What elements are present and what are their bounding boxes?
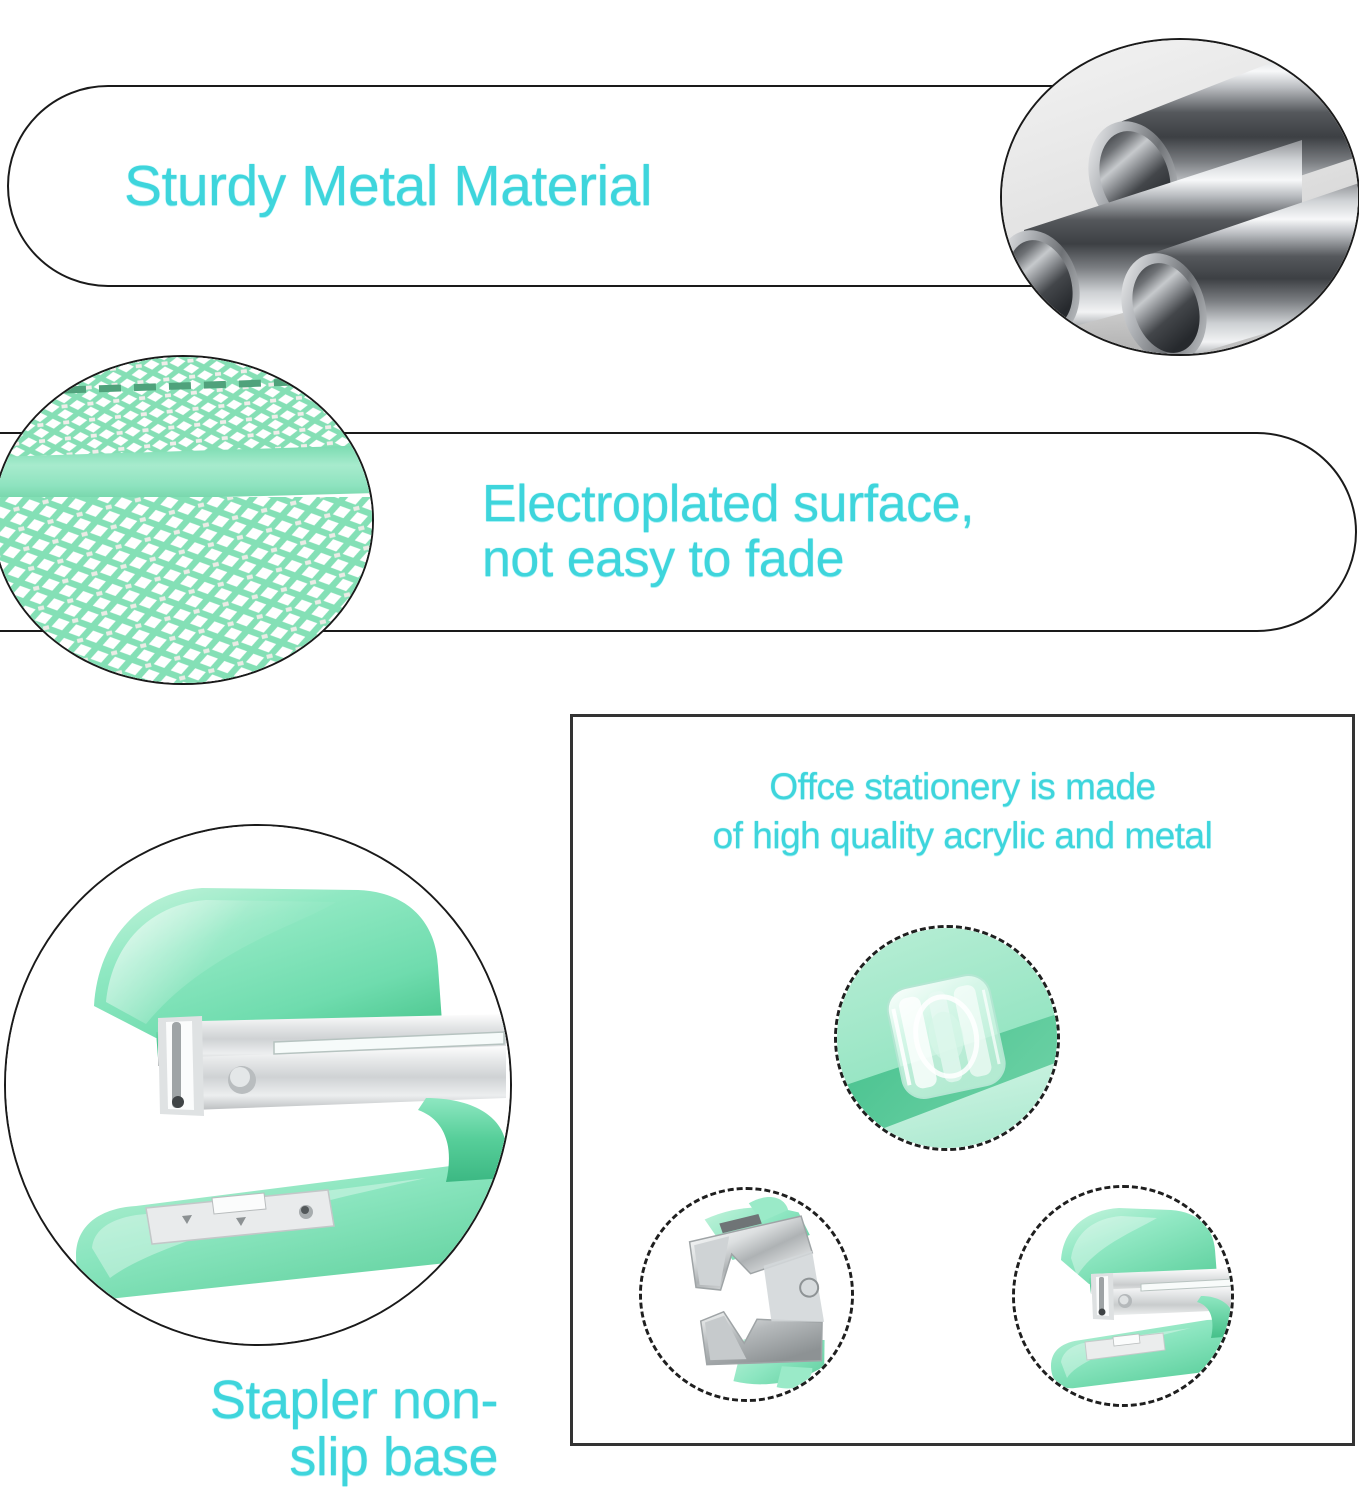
mini-stapler-photo xyxy=(1015,1188,1234,1407)
caption-sturdy-metal-material: Sturdy Metal Material xyxy=(7,85,1097,287)
staple-remover-circle xyxy=(639,1187,854,1402)
staple-remover-photo xyxy=(642,1190,854,1402)
caption-stapler-non-slip-base: Stapler non- slip base xyxy=(28,1372,498,1486)
steel-tubes-photo xyxy=(1002,40,1359,356)
panel-heading: Offce stationery is made of high quality… xyxy=(573,763,1352,861)
mini-stapler-circle xyxy=(1012,1185,1234,1407)
caption-sturdy-label: Sturdy Metal Material xyxy=(124,156,652,216)
infographic-canvas: Sturdy Metal Material xyxy=(0,0,1359,1500)
tape-dispenser-circle xyxy=(834,925,1060,1151)
caption-non-slip-label: Stapler non- slip base xyxy=(28,1372,498,1486)
steel-tubes-circle xyxy=(1000,38,1359,356)
caption-electroplated-label: Electroplated surface, not easy to fade xyxy=(482,477,974,587)
green-mesh-photo xyxy=(0,357,374,685)
panel-heading-label: Offce stationery is made of high quality… xyxy=(573,763,1352,861)
stapler-non-slip-base-circle xyxy=(4,824,512,1346)
mint-stapler-photo xyxy=(6,826,512,1346)
acrylic-tape-dispenser-photo xyxy=(837,928,1060,1151)
green-mesh-circle xyxy=(0,355,374,685)
